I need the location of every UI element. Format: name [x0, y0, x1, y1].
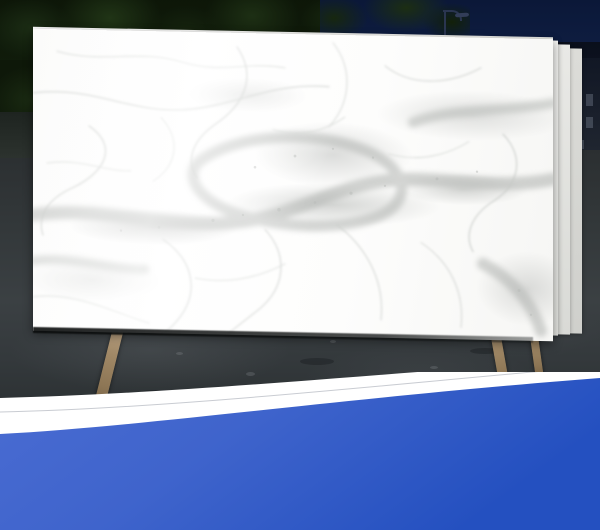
ground-texture: [430, 366, 438, 369]
ground-texture: [176, 352, 183, 355]
ground-texture: [330, 340, 336, 343]
quartz-slab: [33, 29, 553, 341]
slab-photograph: [0, 0, 600, 410]
slab-veining: [33, 29, 553, 341]
marketing-banner: Joint-Home Quartz Stone Slabs StoneConta…: [0, 372, 600, 530]
product-banner-image: Joint-Home Quartz Stone Slabs StoneConta…: [0, 0, 600, 530]
building-window: [586, 117, 593, 128]
building-window: [586, 94, 593, 106]
ground-texture: [300, 358, 334, 365]
banner-swoosh: [0, 372, 600, 530]
